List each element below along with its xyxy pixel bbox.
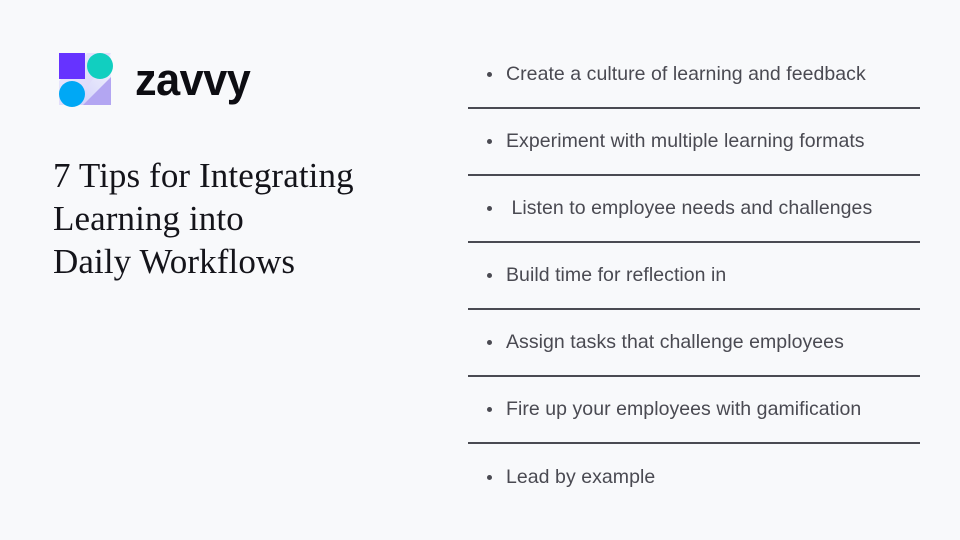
- bullet-icon: [487, 139, 492, 144]
- page-title-line-3: Daily Workflows: [53, 240, 443, 283]
- zavvy-z-logo-icon: [53, 47, 117, 111]
- list-item-label: Create a culture of learning and feedbac…: [506, 63, 866, 86]
- list-item: Listen to employee needs and challenges: [468, 176, 920, 243]
- page-title: 7 Tips for Integrating Learning into Dai…: [53, 154, 443, 283]
- brand-lockup: zavvy: [53, 46, 443, 112]
- bullet-icon: [487, 273, 492, 278]
- list-item: Lead by example: [468, 444, 920, 511]
- list-item: Experiment with multiple learning format…: [468, 109, 920, 176]
- list-item: Create a culture of learning and feedbac…: [468, 42, 920, 109]
- bullet-icon: [487, 340, 492, 345]
- list-item-label: Fire up your employees with gamification: [506, 398, 861, 421]
- list-item-label: Assign tasks that challenge employees: [506, 331, 844, 354]
- list-item: Assign tasks that challenge employees: [468, 310, 920, 377]
- tips-list: Create a culture of learning and feedbac…: [468, 42, 920, 511]
- slide-canvas: zavvy 7 Tips for Integrating Learning in…: [0, 0, 960, 540]
- list-item: Build time for reflection in: [468, 243, 920, 310]
- bullet-icon: [487, 475, 492, 480]
- bullet-icon: [487, 407, 492, 412]
- brand-wordmark: zavvy: [135, 57, 250, 102]
- page-title-line-1: 7 Tips for Integrating: [53, 154, 443, 197]
- left-column: zavvy 7 Tips for Integrating Learning in…: [53, 46, 443, 306]
- bullet-icon: [487, 206, 492, 211]
- list-item-label: Listen to employee needs and challenges: [506, 197, 872, 220]
- list-item-label: Lead by example: [506, 466, 655, 489]
- list-item-label: Build time for reflection in: [506, 264, 726, 287]
- page-title-line-2: Learning into: [53, 197, 443, 240]
- list-item: Fire up your employees with gamification: [468, 377, 920, 444]
- bullet-icon: [487, 72, 492, 77]
- list-item-label: Experiment with multiple learning format…: [506, 130, 865, 153]
